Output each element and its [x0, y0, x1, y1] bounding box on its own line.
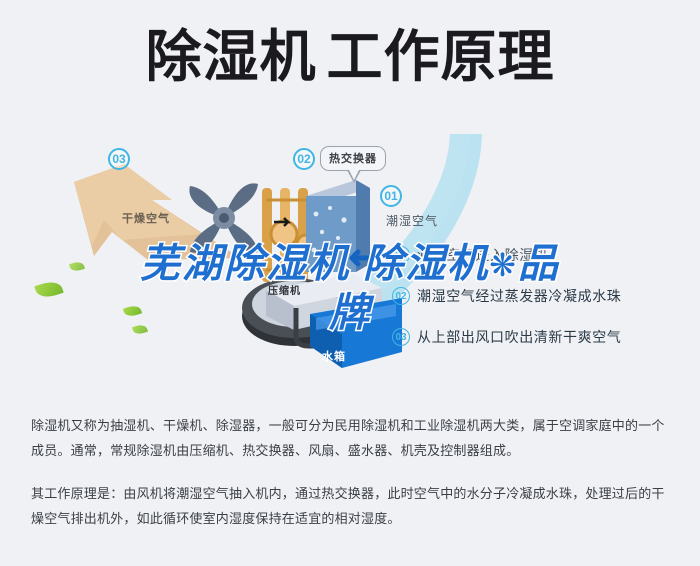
water-tank-label: 水箱: [322, 348, 346, 364]
badge-03: 03: [108, 148, 130, 170]
badge-02: 02: [293, 148, 315, 170]
body-copy: 除湿机又称为抽湿机、干燥机、除湿器，一般可分为民用除湿机和工业除湿机两大类，属于…: [31, 414, 671, 532]
title-part-1: 除湿机: [146, 25, 317, 88]
legend-text: 潮湿空气经过蒸发器冷凝成水珠: [417, 286, 621, 306]
infographic-page: 除湿机工作原理 干燥空气: [0, 0, 700, 566]
legend-item-02: 02 潮湿空气经过蒸发器冷凝成水珠: [392, 286, 692, 306]
paragraph-1: 除湿机又称为抽湿机、干燥机、除湿器，一般可分为民用除湿机和工业除湿机两大类，属于…: [31, 414, 671, 464]
paragraph-2: 其工作原理是：由风机将潮湿空气抽入机内，通过热交换器，此时空气中的水分子冷凝成水…: [31, 482, 671, 532]
leaf-icon: [133, 325, 147, 334]
dehumidifier-body: [236, 260, 406, 370]
title-part-2: 工作原理: [327, 25, 555, 88]
legend-number: 01: [392, 246, 410, 264]
badge-01: 01: [380, 185, 402, 207]
leaf-icon: [124, 306, 141, 316]
moist-air-label: 潮湿空气: [386, 212, 438, 229]
legend-list: 01 潮湿空气进入除湿机 02 潮湿空气经过蒸发器冷凝成水珠 03 从上部出风口…: [392, 245, 692, 368]
heat-exchanger-callout: 热交换器: [320, 146, 386, 171]
dry-air-label: 干燥空气: [122, 210, 170, 226]
legend-item-03: 03 从上部出风口吹出清新干爽空气: [392, 327, 692, 347]
leaf-icon: [36, 282, 62, 297]
legend-number: 02: [392, 287, 410, 305]
legend-item-01: 01 潮湿空气进入除湿机: [392, 245, 692, 265]
page-title: 除湿机工作原理: [0, 26, 700, 88]
compressor-label: 压缩机: [268, 282, 301, 297]
legend-text: 从上部出风口吹出清新干爽空气: [417, 327, 621, 347]
legend-text: 潮湿空气进入除湿机: [417, 245, 548, 265]
legend-number: 03: [392, 328, 410, 346]
